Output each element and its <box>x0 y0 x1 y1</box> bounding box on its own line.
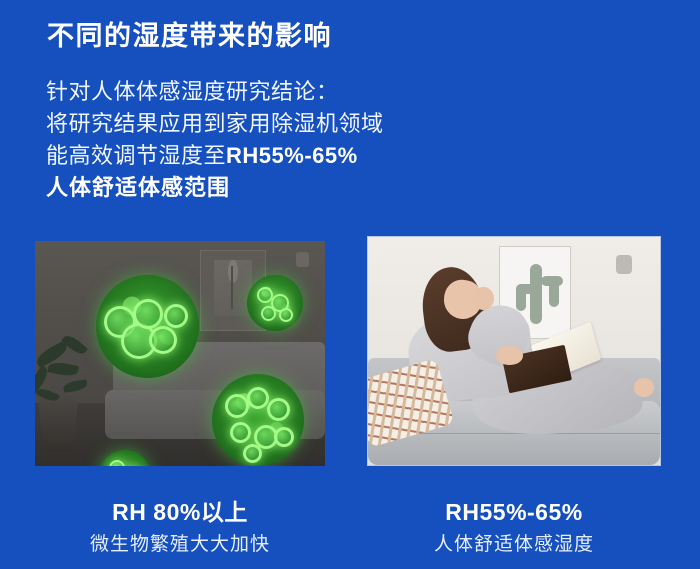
caption-left-title: RH 80%以上 <box>35 497 325 527</box>
caption-high-humidity: RH 80%以上 微生物繁殖大大加快 <box>35 497 325 559</box>
person-foot <box>634 378 654 396</box>
photo-comfort-humidity <box>367 236 661 466</box>
caption-comfort-humidity: RH55%-65% 人体舒适体感湿度 <box>367 497 661 559</box>
microbe-cluster-icon <box>247 275 303 331</box>
page-title: 不同的湿度带来的影响 <box>47 20 332 54</box>
body-line-3-prefix: 能高效调节湿度至 <box>46 143 226 168</box>
left-wall-sensor-icon <box>296 252 309 267</box>
person-hand <box>496 346 522 364</box>
caption-right-title: RH55%-65% <box>367 497 661 527</box>
left-scene <box>35 241 325 466</box>
body-copy: 针对人体体感湿度研究结论： 将研究结果应用到家用除湿机领域 能高效调节湿度至RH… <box>46 76 384 204</box>
right-scene <box>368 237 660 465</box>
caption-left-subtitle: 微生物繁殖大大加快 <box>35 531 325 559</box>
microbe-cluster-icon <box>212 374 304 466</box>
right-wall-sensor-icon <box>616 255 632 274</box>
caption-right-subtitle: 人体舒适体感湿度 <box>367 531 661 559</box>
body-line-3: 能高效调节湿度至RH55%-65% <box>46 140 384 172</box>
person-hand <box>473 287 493 310</box>
promo-poster: 不同的湿度带来的影响 针对人体体感湿度研究结论： 将研究结果应用到家用除湿机领域… <box>0 0 700 569</box>
cactus-icon <box>516 284 526 311</box>
humidity-range-emphasis: RH55%-65% <box>226 143 358 168</box>
cactus-icon <box>549 276 559 307</box>
cactus-icon <box>530 264 542 324</box>
photo-high-humidity <box>35 241 325 466</box>
microbe-cluster-icon <box>96 275 199 378</box>
body-line-4: 人体舒适体感范围 <box>46 172 384 204</box>
body-line-2: 将研究结果应用到家用除湿机领域 <box>46 108 384 140</box>
body-line-1: 针对人体体感湿度研究结论： <box>46 76 384 108</box>
